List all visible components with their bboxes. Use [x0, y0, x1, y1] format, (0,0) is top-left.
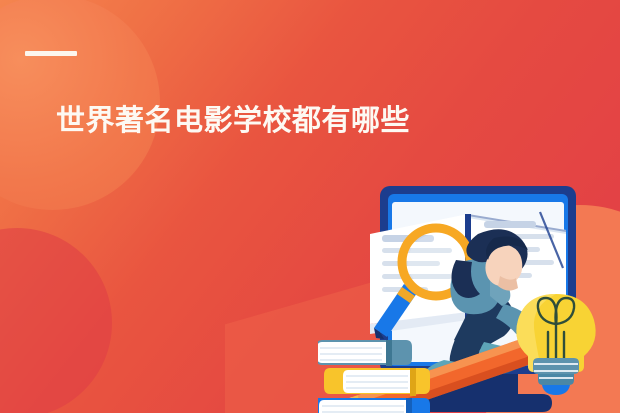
slide-canvas: 世界著名电影学校都有哪些	[0, 0, 620, 413]
lightbulb	[516, 294, 595, 395]
decorative-rule	[25, 51, 77, 56]
page-title: 世界著名电影学校都有哪些	[56, 103, 410, 139]
online-research-illustration	[318, 172, 620, 413]
